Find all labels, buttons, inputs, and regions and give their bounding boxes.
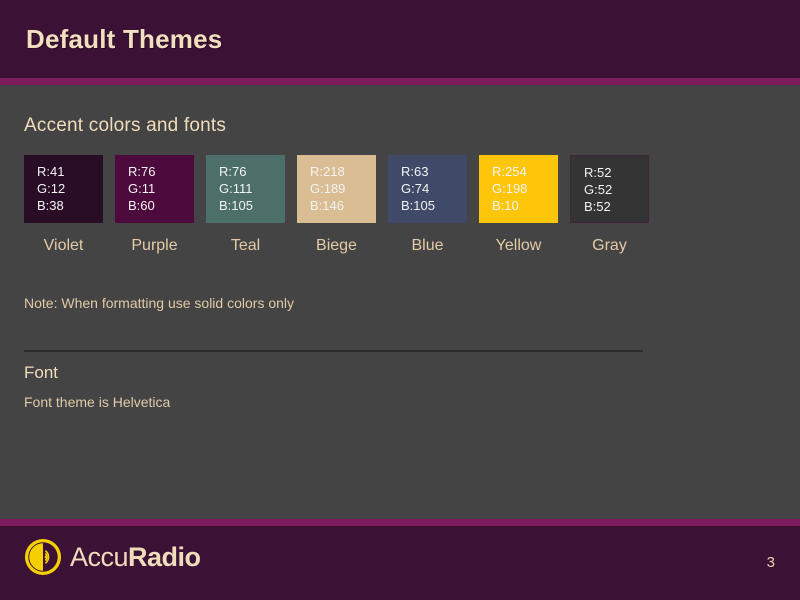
swatch-label-gray: Gray xyxy=(592,237,627,255)
swatch-box-teal: R:76 G:111 B:105 xyxy=(206,155,285,223)
slide-header: Default Themes xyxy=(0,0,800,78)
swatch-red-value: R:41 xyxy=(37,163,103,180)
swatch-blue-value: B:60 xyxy=(128,197,194,214)
swatch-green-value: G:74 xyxy=(401,180,467,197)
font-section-heading: Font xyxy=(24,363,58,383)
swatch-blue-value: B:146 xyxy=(310,197,376,214)
color-swatch-gray: R:52 G:52 B:52 Gray xyxy=(570,155,649,255)
swatch-label-purple: Purple xyxy=(131,237,177,255)
swatch-red-value: R:76 xyxy=(128,163,194,180)
slide-footer: AccuRadio 3 xyxy=(0,526,800,600)
color-swatch-biege: R:218 G:189 B:146 Biege xyxy=(297,155,376,255)
color-swatch-purple: R:76 G:11 B:60 Purple xyxy=(115,155,194,255)
logo-text-accu: Accu xyxy=(70,542,128,572)
swatch-label-violet: Violet xyxy=(44,237,84,255)
accuradio-speaker-icon xyxy=(24,538,62,576)
swatch-red-value: R:76 xyxy=(219,163,285,180)
swatch-green-value: G:12 xyxy=(37,180,103,197)
swatch-blue-value: B:38 xyxy=(37,197,103,214)
swatch-box-blue: R:63 G:74 B:105 xyxy=(388,155,467,223)
formatting-note: Note: When formatting use solid colors o… xyxy=(24,295,294,311)
font-section-text: Font theme is Helvetica xyxy=(24,394,170,410)
swatch-blue-value: B:10 xyxy=(492,197,558,214)
footer-accent-bar xyxy=(0,519,800,526)
color-swatch-yellow: R:254 G:198 B:10 Yellow xyxy=(479,155,558,255)
swatch-box-biege: R:218 G:189 B:146 xyxy=(297,155,376,223)
swatch-green-value: G:52 xyxy=(584,181,648,198)
swatch-red-value: R:254 xyxy=(492,163,558,180)
color-swatch-violet: R:41 G:12 B:38 Violet xyxy=(24,155,103,255)
page-title: Default Themes xyxy=(26,24,222,55)
slide: Default Themes Accent colors and fonts R… xyxy=(0,0,800,600)
accuradio-wordmark: AccuRadio xyxy=(70,544,201,571)
color-swatch-row: R:41 G:12 B:38 Violet R:76 G:11 B:60 Pur… xyxy=(24,155,649,255)
slide-body: Accent colors and fonts R:41 G:12 B:38 V… xyxy=(0,85,800,519)
swatch-blue-value: B:105 xyxy=(219,197,285,214)
swatch-blue-value: B:105 xyxy=(401,197,467,214)
swatch-green-value: G:111 xyxy=(219,180,285,197)
swatch-label-teal: Teal xyxy=(231,237,260,255)
swatch-box-yellow: R:254 G:198 B:10 xyxy=(479,155,558,223)
accuradio-logo: AccuRadio xyxy=(24,538,201,576)
swatch-box-violet: R:41 G:12 B:38 xyxy=(24,155,103,223)
swatch-box-gray: R:52 G:52 B:52 xyxy=(570,155,649,223)
color-swatch-blue: R:63 G:74 B:105 Blue xyxy=(388,155,467,255)
section-divider xyxy=(24,350,643,352)
swatch-red-value: R:63 xyxy=(401,163,467,180)
swatch-label-yellow: Yellow xyxy=(496,237,542,255)
section-title: Accent colors and fonts xyxy=(24,115,226,137)
swatch-green-value: G:189 xyxy=(310,180,376,197)
swatch-green-value: G:11 xyxy=(128,180,194,197)
logo-text-radio: Radio xyxy=(128,542,201,572)
swatch-green-value: G:198 xyxy=(492,180,558,197)
swatch-red-value: R:218 xyxy=(310,163,376,180)
swatch-red-value: R:52 xyxy=(584,164,648,181)
swatch-label-biege: Biege xyxy=(316,237,357,255)
swatch-label-blue: Blue xyxy=(411,237,443,255)
page-number: 3 xyxy=(767,554,775,571)
swatch-box-purple: R:76 G:11 B:60 xyxy=(115,155,194,223)
swatch-blue-value: B:52 xyxy=(584,198,648,215)
color-swatch-teal: R:76 G:111 B:105 Teal xyxy=(206,155,285,255)
header-accent-bar xyxy=(0,78,800,85)
